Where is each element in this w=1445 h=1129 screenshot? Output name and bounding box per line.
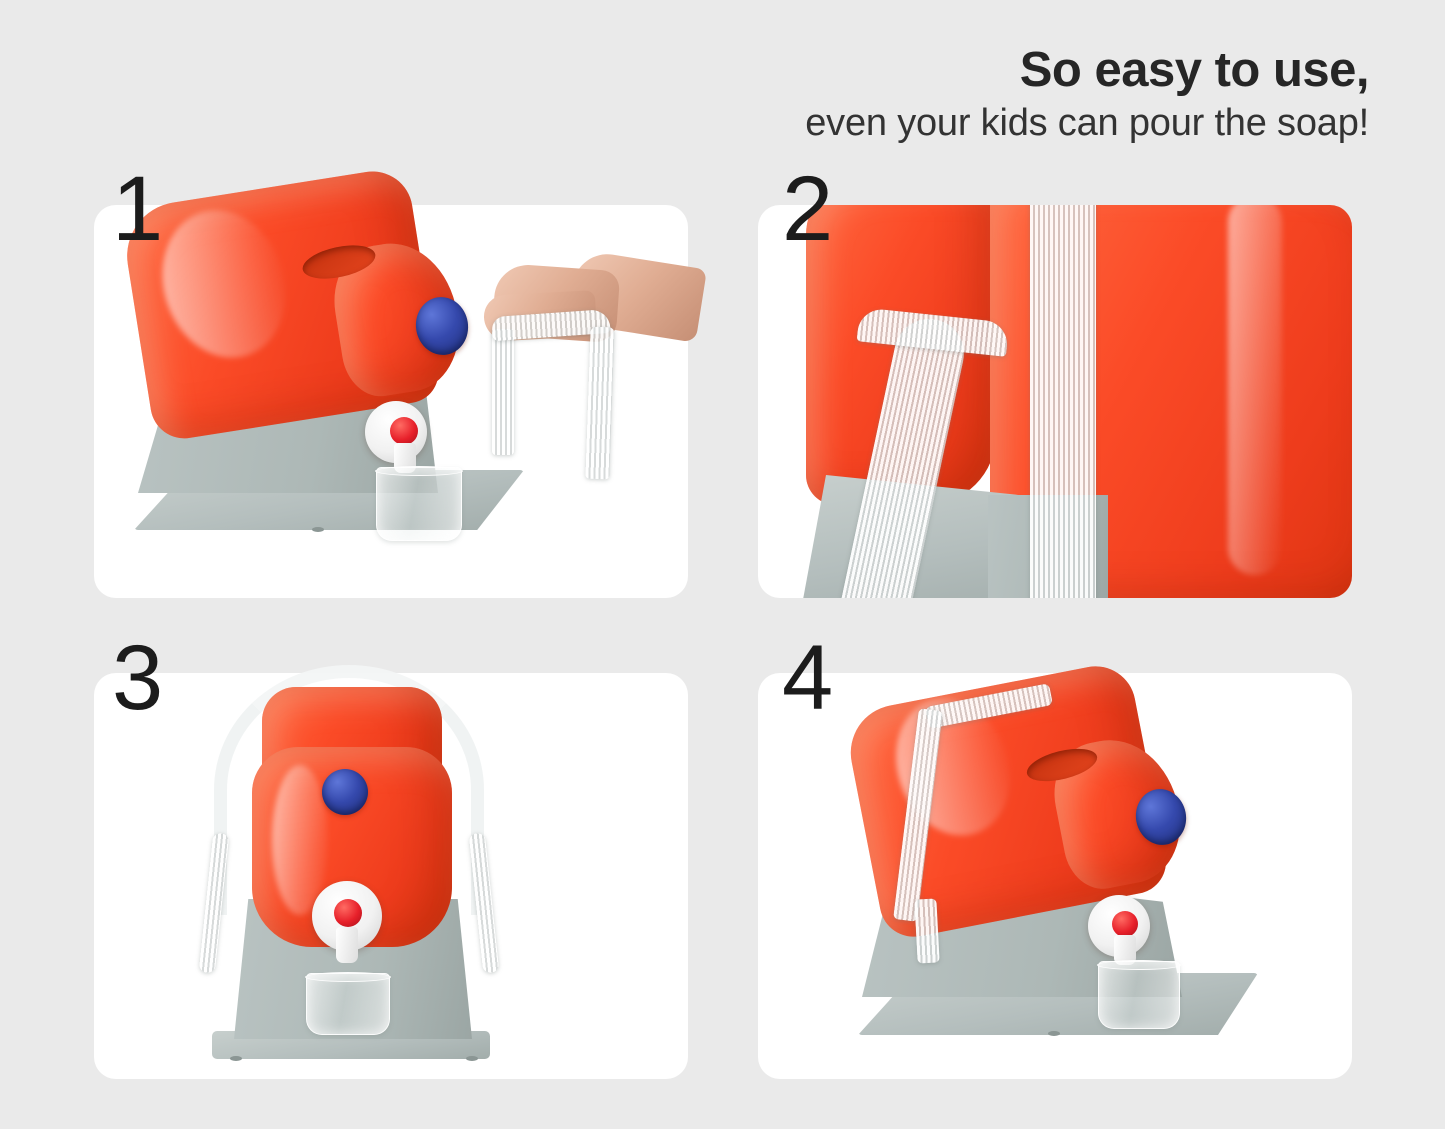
strap-left-leg xyxy=(492,329,514,455)
jug-closeup-highlight xyxy=(1228,205,1282,575)
illustration-step-2 xyxy=(758,205,1352,598)
measuring-cup xyxy=(306,973,390,1035)
stand-foot-right xyxy=(466,1056,478,1061)
measuring-cup xyxy=(376,467,462,541)
illustration-step-3 xyxy=(94,673,688,1079)
measuring-cup-rim xyxy=(1097,960,1181,970)
steps-grid: 1 2 3 4 xyxy=(0,0,1445,1129)
measuring-cup-rim xyxy=(375,466,463,476)
stand-foot xyxy=(1048,1031,1060,1036)
step-number-4: 4 xyxy=(782,632,833,724)
measuring-cup xyxy=(1098,961,1180,1029)
spigot-red-button xyxy=(334,899,362,927)
stand-foot-left xyxy=(230,1056,242,1061)
step-number-2: 2 xyxy=(782,163,833,255)
illustration-step-4 xyxy=(758,673,1352,1079)
step-number-1: 1 xyxy=(112,163,163,255)
spigot-lever xyxy=(336,927,358,963)
strap-right-leg xyxy=(585,327,614,480)
measuring-cup-rim xyxy=(305,972,391,982)
strap-vertical-run xyxy=(1030,205,1096,598)
spigot-red-button xyxy=(1112,911,1138,937)
spigot-red-button xyxy=(390,417,418,445)
illustration-step-1 xyxy=(94,205,688,598)
step-number-3: 3 xyxy=(112,632,163,724)
jug-blue-cap xyxy=(322,769,368,815)
stand-foot xyxy=(312,527,324,532)
strap-wrap-tail xyxy=(914,898,939,963)
